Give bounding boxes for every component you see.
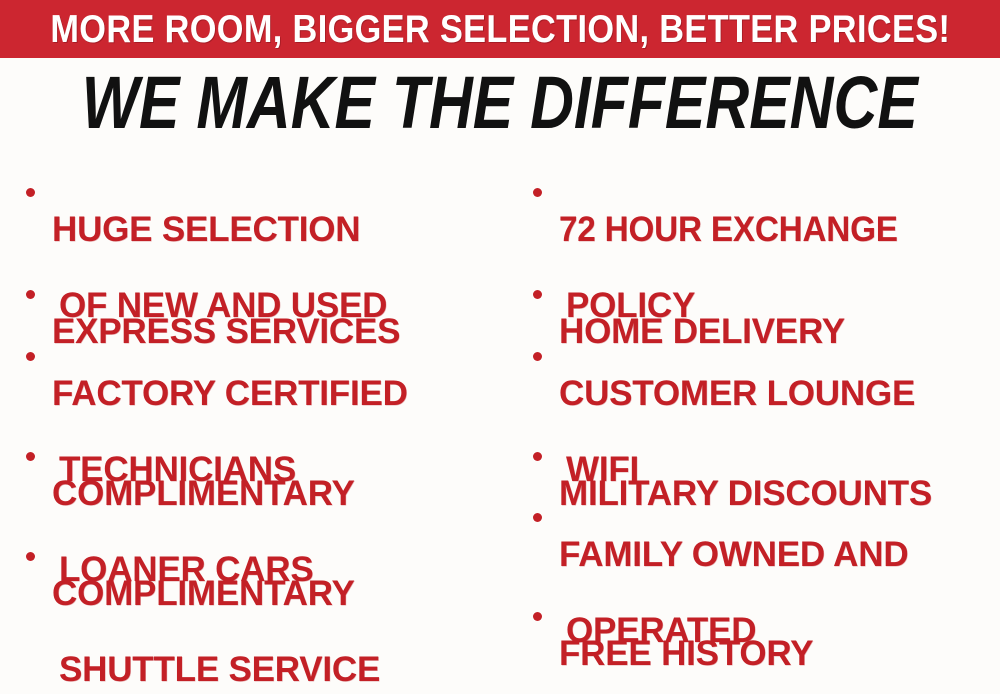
list-item-line1: 72 HOUR EXCHANGE [559,211,978,249]
list-item: FREE HISTORY REPORTS [529,597,1000,694]
top-banner: MORE ROOM, BIGGER SELECTION, BETTER PRIC… [0,0,1000,58]
features-column-left: HUGE SELECTION OF NEW AND USED EXPRESS S… [0,160,505,694]
list-item-line1: CUSTOMER LOUNGE [559,375,1000,413]
list-item-line1: FREE HISTORY [559,635,1000,673]
main-headline-text: WE MAKE THE DIFFERENCE [82,66,918,140]
main-headline-container: WE MAKE THE DIFFERENCE [0,62,1000,144]
features-columns: HUGE SELECTION OF NEW AND USED EXPRESS S… [0,160,1000,694]
list-item-line1: FACTORY CERTIFIED [52,375,505,413]
list-item: COMPLIMENTARY SHUTTLE SERVICE [22,537,505,694]
list-item-line1: COMPLIMENTARY [52,575,505,613]
promotional-poster: MORE ROOM, BIGGER SELECTION, BETTER PRIC… [0,0,1000,694]
features-column-right: 72 HOUR EXCHANGE POLICY HOME DELIVERY CU… [505,160,1000,694]
list-item-line1: COMPLIMENTARY [52,475,505,513]
banner-headline-text: MORE ROOM, BIGGER SELECTION, BETTER PRIC… [50,10,950,49]
list-item-line1: FAMILY OWNED AND [559,536,1000,574]
list-item-line1: HUGE SELECTION [52,211,505,249]
list-item-line2: SHUTTLE SERVICE [59,651,505,689]
